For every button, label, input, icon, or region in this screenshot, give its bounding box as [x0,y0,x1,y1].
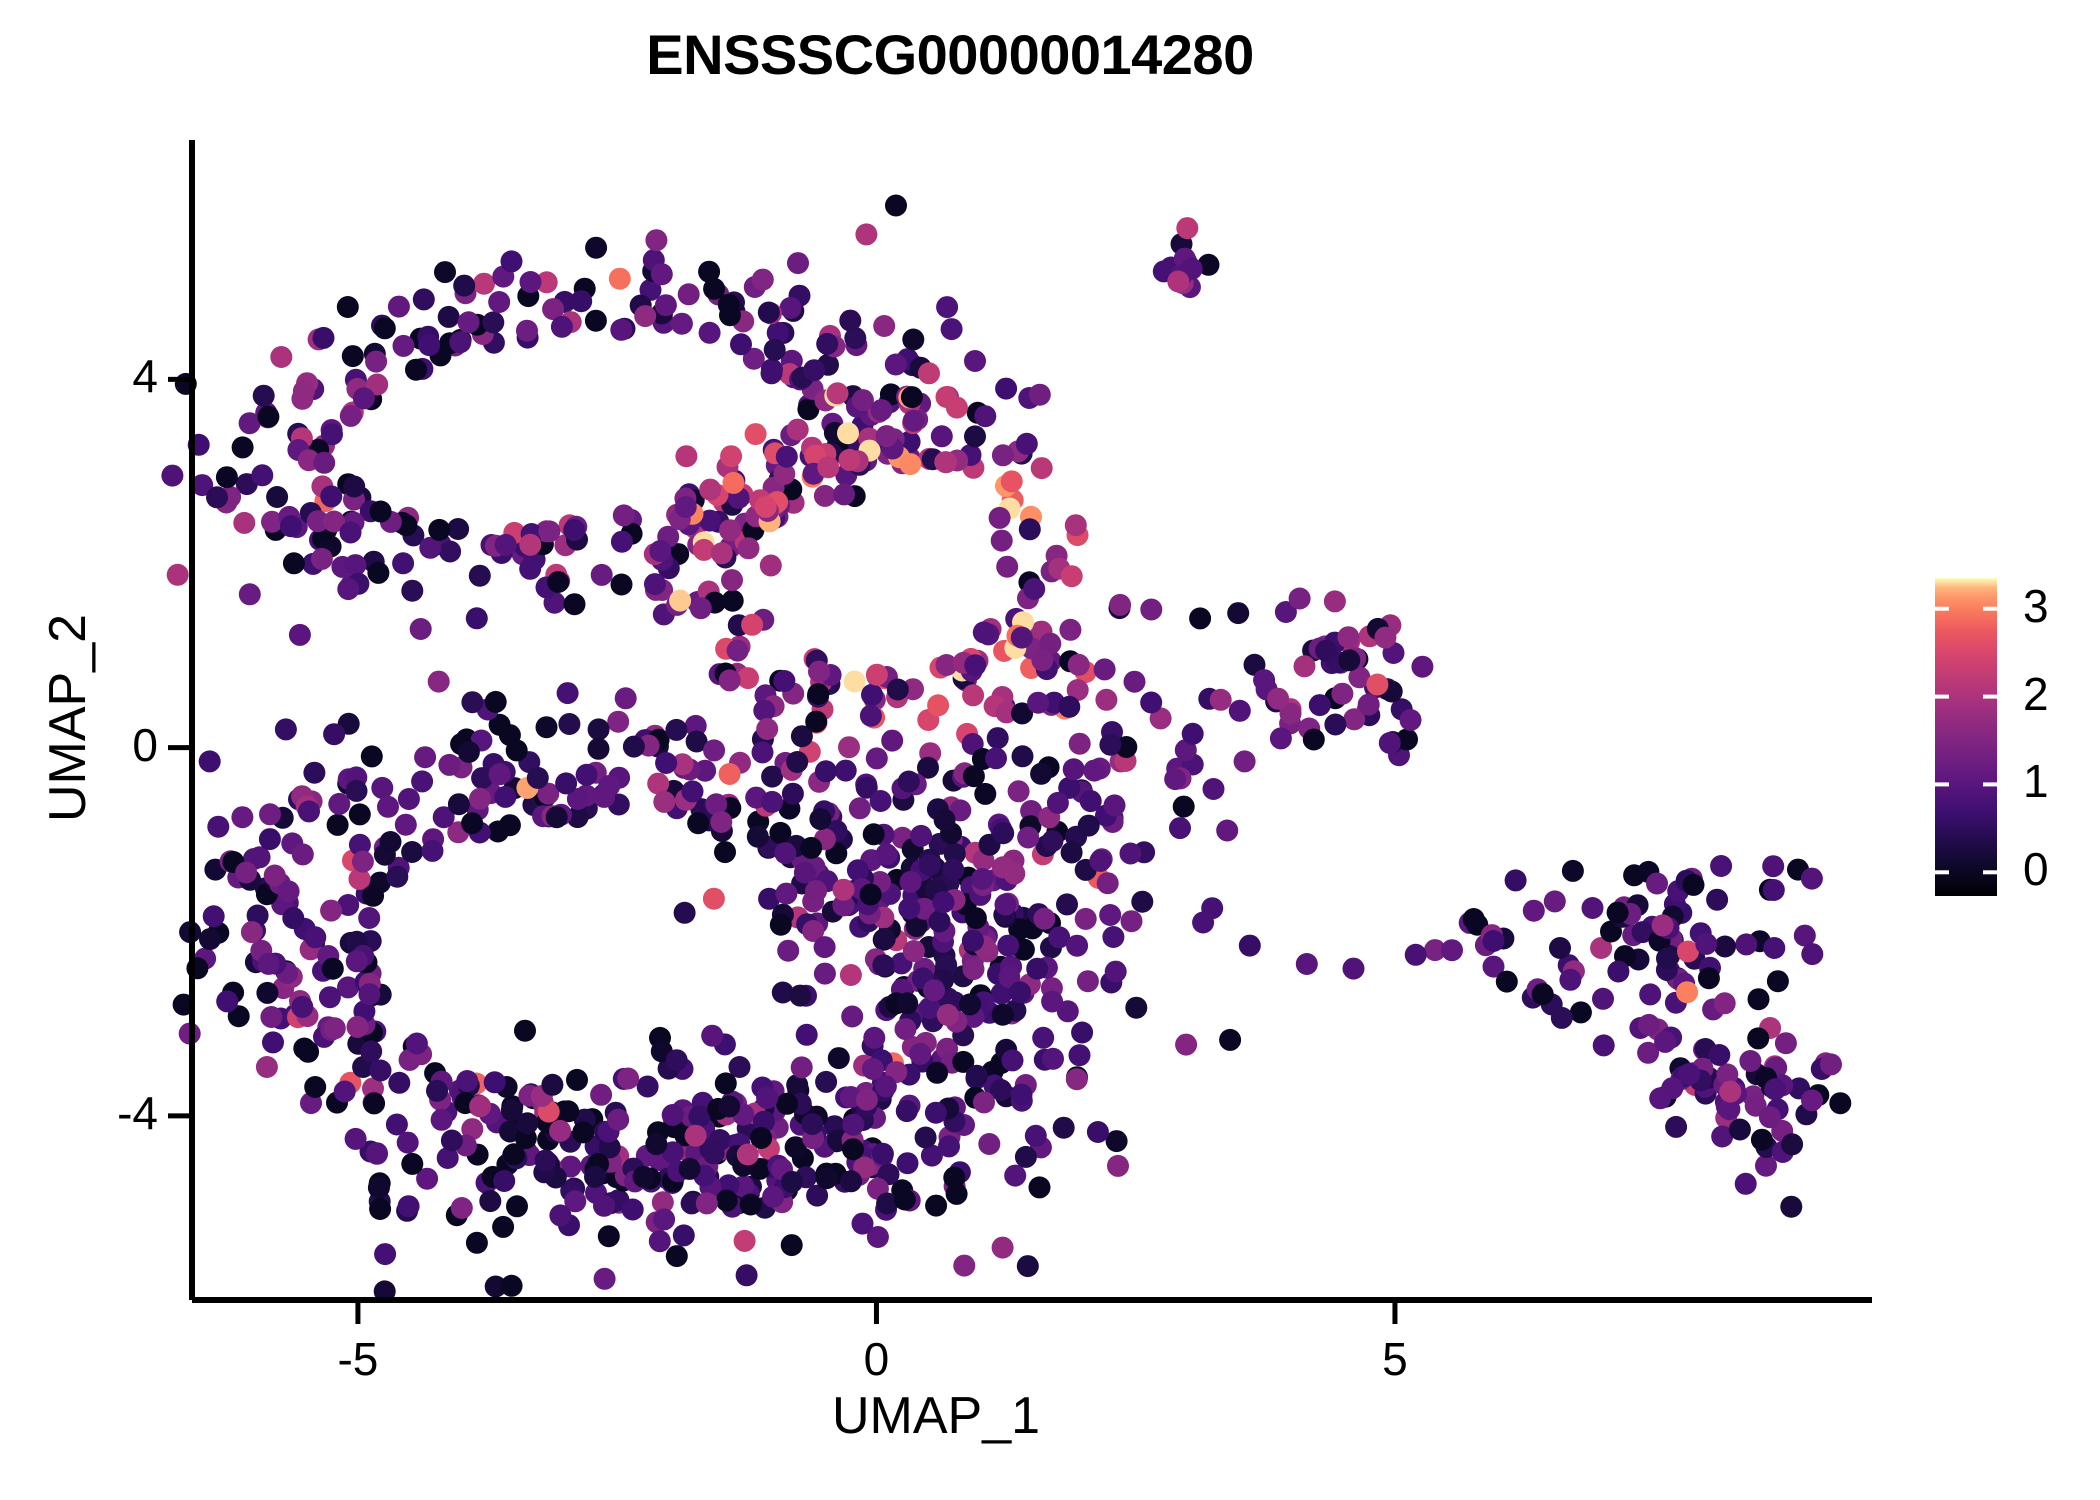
data-point [808,661,830,683]
data-point [756,1087,778,1109]
data-point [1089,850,1111,872]
data-point [762,1186,784,1208]
data-point [840,1170,862,1192]
data-point [653,791,675,813]
data-point [1031,457,1053,479]
data-point [337,578,359,600]
data-point [1176,217,1198,239]
data-point [291,388,313,410]
data-point [863,823,885,845]
data-point [756,718,778,740]
data-point [809,808,831,830]
data-point [1714,992,1736,1014]
data-point [1124,671,1146,693]
data-point [761,766,783,788]
data-point [774,842,796,864]
data-point [527,767,549,789]
data-point [1665,1116,1687,1138]
data-point [1066,1068,1088,1090]
data-point [1829,1092,1851,1114]
data-point [655,752,677,774]
data-point [1107,1155,1129,1177]
data-point [959,993,981,1015]
data-point [484,1071,506,1093]
data-point [1059,619,1081,641]
data-point [1775,1032,1797,1054]
data-point [711,542,733,564]
data-point [1053,1117,1075,1139]
data-point [1820,1053,1842,1075]
data-point [609,268,631,290]
data-point [346,780,368,802]
data-point [796,1024,818,1046]
data-point [362,885,384,907]
data-point [1747,1027,1769,1049]
data-point [1105,961,1127,983]
data-point [787,252,809,274]
data-point [449,331,471,353]
data-point [992,856,1014,878]
data-point [719,669,741,691]
data-point [426,1080,448,1102]
data-point [915,1127,937,1149]
data-point [966,1065,988,1087]
data-point [1227,602,1249,624]
data-point [506,1195,528,1217]
data-point [927,694,949,716]
data-point [388,1072,410,1094]
data-point [615,687,637,709]
data-point [1762,855,1784,877]
data-point [852,1213,874,1235]
data-point [872,954,894,976]
x-axis-ticks [358,1300,1395,1324]
data-point [738,537,760,559]
data-point [519,534,541,556]
data-point [1654,1031,1676,1053]
data-point [564,593,586,615]
data-point [370,501,392,523]
data-point [909,1043,931,1065]
data-point [679,1158,701,1180]
data-point [313,452,335,474]
data-point [699,479,721,501]
data-point [719,304,741,326]
data-point [549,1120,571,1142]
data-point [675,445,697,467]
data-point [320,485,342,507]
data-point [1029,1176,1051,1198]
data-point [361,745,383,767]
data-point [800,837,822,859]
data-point [1656,948,1678,970]
colorbar-gradient [1935,578,1997,896]
data-point [1058,696,1080,718]
data-point [753,700,775,722]
data-point [844,671,866,693]
data-point [1182,723,1204,745]
data-point [469,788,491,810]
data-point [896,992,918,1014]
data-point [1210,689,1232,711]
data-point [634,305,656,327]
data-point [466,1232,488,1254]
data-point [411,770,433,792]
data-point [1219,1029,1241,1051]
data-point [434,261,456,283]
data-point [943,1167,965,1189]
data-point [727,640,749,662]
data-point [870,790,892,812]
data-point [866,747,888,769]
data-point [1077,970,1099,992]
data-point [231,806,253,828]
data-point [1801,868,1823,890]
data-point [962,684,984,706]
data-point [786,751,808,773]
data-point [456,1070,478,1092]
data-point [492,1216,514,1238]
x-axis-title: UMAP_1 [0,1386,1872,1446]
data-point [1719,1081,1741,1103]
data-point [649,540,671,562]
data-point [860,884,882,906]
data-point [776,446,798,468]
data-point [438,306,460,328]
data-point [1289,588,1311,610]
y-tick-label: 4 [38,349,158,403]
data-point [703,888,725,910]
data-point [259,803,281,825]
data-point [719,519,741,541]
data-point [856,1089,878,1111]
data-point [598,1225,620,1247]
data-point [1570,1001,1592,1023]
data-point [1099,734,1121,756]
data-point [1523,900,1545,922]
data-point [414,746,436,768]
data-point [1400,709,1422,731]
data-point [216,990,238,1012]
data-point [1593,1034,1615,1056]
data-point [814,963,836,985]
data-point [985,747,1007,769]
data-point [919,854,941,876]
data-point [1337,626,1359,648]
data-point [1296,953,1318,975]
data-point [805,880,827,902]
data-point [251,464,273,486]
data-point [489,763,511,785]
data-point [260,1006,282,1028]
data-point [590,1084,612,1106]
data-point [873,315,895,337]
data-point [360,1040,382,1062]
data-point [761,362,783,384]
data-point [978,1133,1000,1155]
data-point [1017,1255,1039,1277]
data-point [584,1166,606,1188]
data-point [1140,692,1162,714]
data-point [761,791,783,813]
data-point [1061,842,1083,864]
data-point [607,711,629,733]
data-point [1695,933,1717,955]
data-point [428,519,450,541]
data-point [541,1074,563,1096]
data-point [233,512,255,534]
data-point [323,723,345,745]
data-point [337,296,359,318]
data-point [637,1076,659,1098]
data-point [1270,727,1292,749]
data-point [266,486,288,508]
data-point [607,1109,629,1131]
data-point [992,444,1014,466]
data-points-layer [161,195,1851,1303]
data-point [447,518,469,540]
data-point [451,1197,473,1219]
data-point [1094,658,1116,680]
data-point [363,1092,385,1114]
data-point [935,451,957,473]
data-point [1011,1084,1033,1106]
data-point [536,716,558,738]
data-point [1751,1129,1773,1151]
data-point [280,515,302,537]
data-point [870,399,892,421]
data-point [838,736,860,758]
data-point [1801,943,1823,965]
data-point [320,900,342,922]
data-point [755,496,777,518]
data-point [898,898,920,920]
data-point [703,739,725,761]
data-point [1026,958,1048,980]
data-point [842,1138,864,1160]
data-point [1069,1044,1091,1066]
data-point [358,983,380,1005]
data-point [368,1177,390,1199]
x-tick-label: -5 [298,1332,418,1386]
data-point [992,822,1014,844]
data-point [764,339,786,361]
data-point [413,288,435,310]
data-point [405,359,427,381]
data-point [895,1018,917,1040]
data-point [461,691,483,713]
data-point [1029,384,1051,406]
data-point [253,385,275,407]
data-point [1708,1044,1730,1066]
data-point [546,806,568,828]
data-point [410,618,432,640]
data-point [665,719,687,741]
data-point [1551,1007,1573,1029]
data-point [441,1130,463,1152]
data-point [365,351,387,373]
data-point [469,565,491,587]
data-point [1496,971,1518,993]
data-point [1131,891,1153,913]
data-point [1097,872,1119,894]
scatter-plot-canvas [0,0,2100,1500]
data-point [1239,935,1261,957]
data-point [613,504,635,526]
data-point [688,1106,710,1128]
data-point [1008,780,1030,802]
x-tick-label: 0 [816,1332,936,1386]
data-point [458,311,480,333]
data-point [874,928,896,950]
data-point [622,1199,644,1221]
data-point [861,684,883,706]
data-point [275,718,297,740]
data-point [1714,936,1736,958]
data-point [353,387,375,409]
data-point [256,1056,278,1078]
data-point [833,483,855,505]
data-point [1071,1022,1093,1044]
data-point [588,718,610,740]
data-point [714,841,736,863]
data-point [1639,983,1661,1005]
data-point [1735,1173,1757,1195]
data-point [1106,1130,1128,1152]
data-point [401,1153,423,1175]
data-point [1405,944,1427,966]
data-point [558,713,580,735]
data-point [730,333,752,355]
data-point [535,1150,557,1172]
data-point [591,564,613,586]
data-point [1189,607,1211,629]
data-point [367,562,389,584]
y-tick-label: -4 [38,1086,158,1140]
data-point [1649,1087,1671,1109]
data-point [842,1114,864,1136]
data-point [566,1069,588,1091]
data-point [304,1076,326,1098]
data-point [1303,729,1325,751]
data-point [1066,935,1088,957]
data-point [352,851,374,873]
data-point [805,711,827,733]
data-point [841,1006,863,1028]
data-point [685,1125,707,1147]
data-point [828,1047,850,1069]
data-point [903,940,925,962]
data-point [349,803,371,825]
data-point [1683,874,1705,896]
data-point [397,1132,419,1154]
data-point [340,522,362,544]
data-point [789,985,811,1007]
data-point [501,250,523,272]
data-point [1056,893,1078,915]
data-point [752,269,774,291]
data-point [293,1038,315,1060]
data-point [722,590,744,612]
data-point [1017,827,1039,849]
data-point [900,871,922,893]
data-point [926,1062,948,1084]
data-point [671,313,693,335]
data-point [971,868,993,890]
data-point [734,1230,756,1252]
colorbar-tick-label: 3 [2023,579,2049,633]
data-point [814,936,836,958]
data-point [696,1192,718,1214]
data-point [1030,763,1052,785]
data-point [923,979,945,1001]
data-point [910,825,932,847]
data-point [925,1102,947,1124]
data-point [807,683,829,705]
data-point [623,736,645,758]
data-point [366,1142,388,1164]
data-point [936,296,958,318]
data-point [964,350,986,372]
data-point [1047,792,1069,814]
data-point [206,486,228,508]
data-point [898,771,920,793]
data-point [557,1100,579,1122]
data-point [401,841,423,863]
data-point [346,950,368,972]
data-point [937,1004,959,1026]
data-point [941,318,963,340]
data-point [549,1204,571,1226]
data-point [666,1245,688,1267]
data-point [740,1194,762,1216]
data-point [699,322,721,344]
data-point [896,1100,918,1122]
data-point [593,1195,615,1217]
data-point [516,320,538,342]
data-point [776,1093,798,1115]
data-point [885,195,907,217]
data-point [1033,908,1055,930]
data-point [1011,627,1033,649]
data-point [855,223,877,245]
data-point [760,555,782,577]
data-point [721,569,743,591]
data-point [1099,904,1121,926]
data-point [401,580,423,602]
data-point [866,664,888,686]
colorbar [1935,578,1997,896]
data-point [611,574,633,596]
data-point [1729,1119,1751,1141]
data-point [1374,627,1396,649]
umap-feature-plot: ENSSSCG00000014280 [0,0,2100,1500]
data-point [1009,981,1031,1003]
data-point [347,1016,369,1038]
data-point [593,786,615,808]
data-point [787,419,809,441]
data-point [1764,1078,1786,1100]
data-point [716,1190,738,1212]
data-point [439,541,461,563]
data-point [1710,855,1732,877]
data-point [458,741,480,763]
data-point [701,1025,723,1047]
y-tick-label: 0 [38,718,158,772]
data-point [633,1166,655,1188]
data-point [1706,889,1728,911]
data-point [572,1121,594,1143]
